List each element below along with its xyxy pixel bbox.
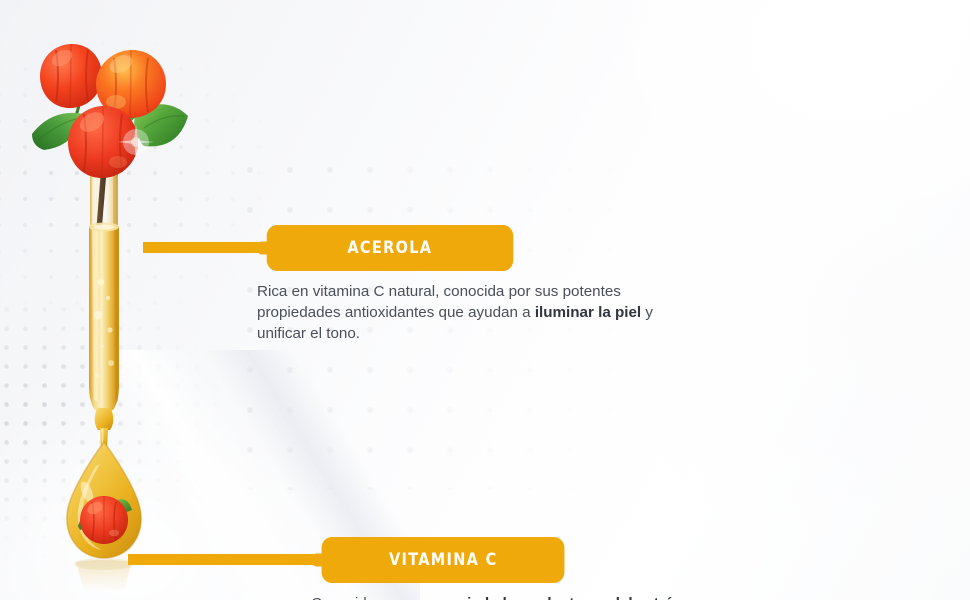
ingredient-label-acerola[interactable]: ACEROLA	[267, 225, 514, 271]
dropper-illustration	[18, 30, 208, 590]
ingredient-label-text: ACEROLA	[348, 238, 433, 258]
ingredient-description-acerola: Rica en vitamina C natural, conocida por…	[257, 282, 693, 344]
connector-line-vitamina-c	[128, 554, 326, 565]
desc-text-bold: iluminar la piel	[535, 304, 641, 321]
connector-line-acerola	[143, 242, 265, 253]
ingredient-description-vitamina-c: Conocida por sus propiedades reductoras …	[311, 594, 741, 600]
infographic-stage: ACEROLA Rica en vitamina C natural, cono…	[0, 0, 970, 600]
ingredient-label-vitamina-c[interactable]: VITAMINA C	[322, 537, 565, 583]
desc-text: Conocida por sus	[311, 595, 433, 600]
ingredient-label-text: VITAMINA C	[389, 550, 498, 570]
